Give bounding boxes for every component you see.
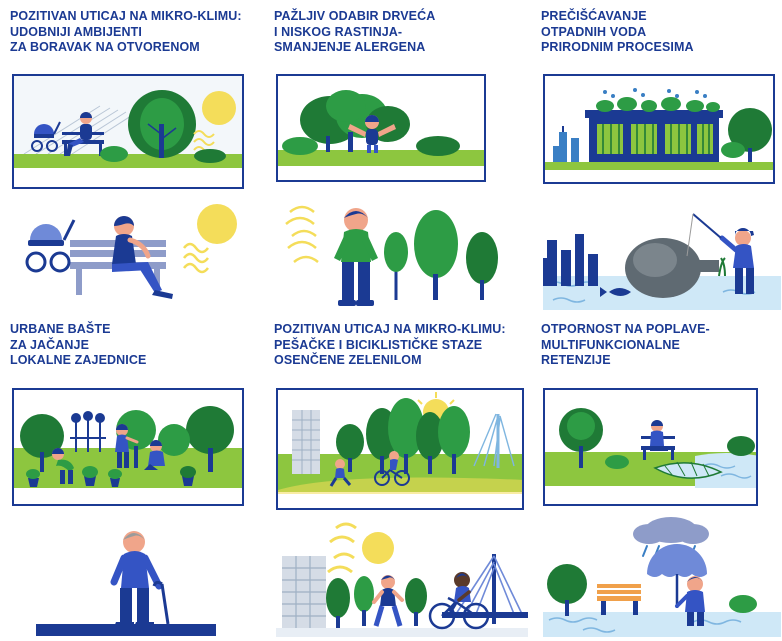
scene-woman-on-bench [12,196,242,316]
scene-shaded-path [278,390,522,508]
panel-title: PREČIŠĆAVANJE OTPADNIH VODA PRIRODNIM PR… [541,9,771,56]
panel-title: URBANE BAŠTE ZA JAČANJE LOKALNE ZAJEDNIC… [10,322,250,369]
scene-city-bridge-cyclist [276,512,528,637]
panel-microclimate-outdoor: POZITIVAN UTICAJ NA MIKRO-KLIMU: UDOBNIJ… [6,6,254,316]
panel-shaded-paths: POZITIVAN UTICAJ NA MIKRO-KLIMU: PEŠAČKE… [270,322,530,637]
scene-river-fishing [543,196,781,314]
scene-person-allergy-free [276,188,506,316]
scene-urban-garden [14,390,242,504]
scene-rain-umbrella [543,512,781,637]
panel-title: PAŽLJIV ODABIR DRVEĆA I NISKOG RASTINJA-… [274,9,514,56]
scene-elderly-man-walking [12,514,242,636]
speech-bubble [543,388,758,506]
speech-bubble [276,74,486,182]
speech-bubble [12,74,244,189]
panel-title: POZITIVAN UTICAJ NA MIKRO-KLIMU: UDOBNIJ… [10,9,250,56]
scene-outdoor-comfort [14,76,242,187]
panel-title: POZITIVAN UTICAJ NA MIKRO-KLIMU: PEŠAČKE… [274,322,530,369]
speech-bubble [276,388,524,510]
panel-urban-gardens: URBANE BAŠTE ZA JAČANJE LOKALNE ZAJEDNIC… [6,322,254,637]
panel-title: OTPORNOST NA POPLAVE- MULTIFUNKCIONALNE … [541,322,781,369]
scene-treatment-plant [545,76,773,182]
panel-wastewater: PREČIŠĆAVANJE OTPADNIH VODA PRIRODNIM PR… [537,6,782,316]
speech-bubble [543,74,775,184]
panel-tree-selection: PAŽLJIV ODABIR DRVEĆA I NISKOG RASTINJA-… [270,6,518,316]
scene-retention-pond [545,390,756,504]
speech-bubble [12,388,244,506]
panel-flood-resilience: OTPORNOST NA POPLAVE- MULTIFUNKCIONALNE … [537,322,782,637]
scene-tree-selection [278,76,484,180]
